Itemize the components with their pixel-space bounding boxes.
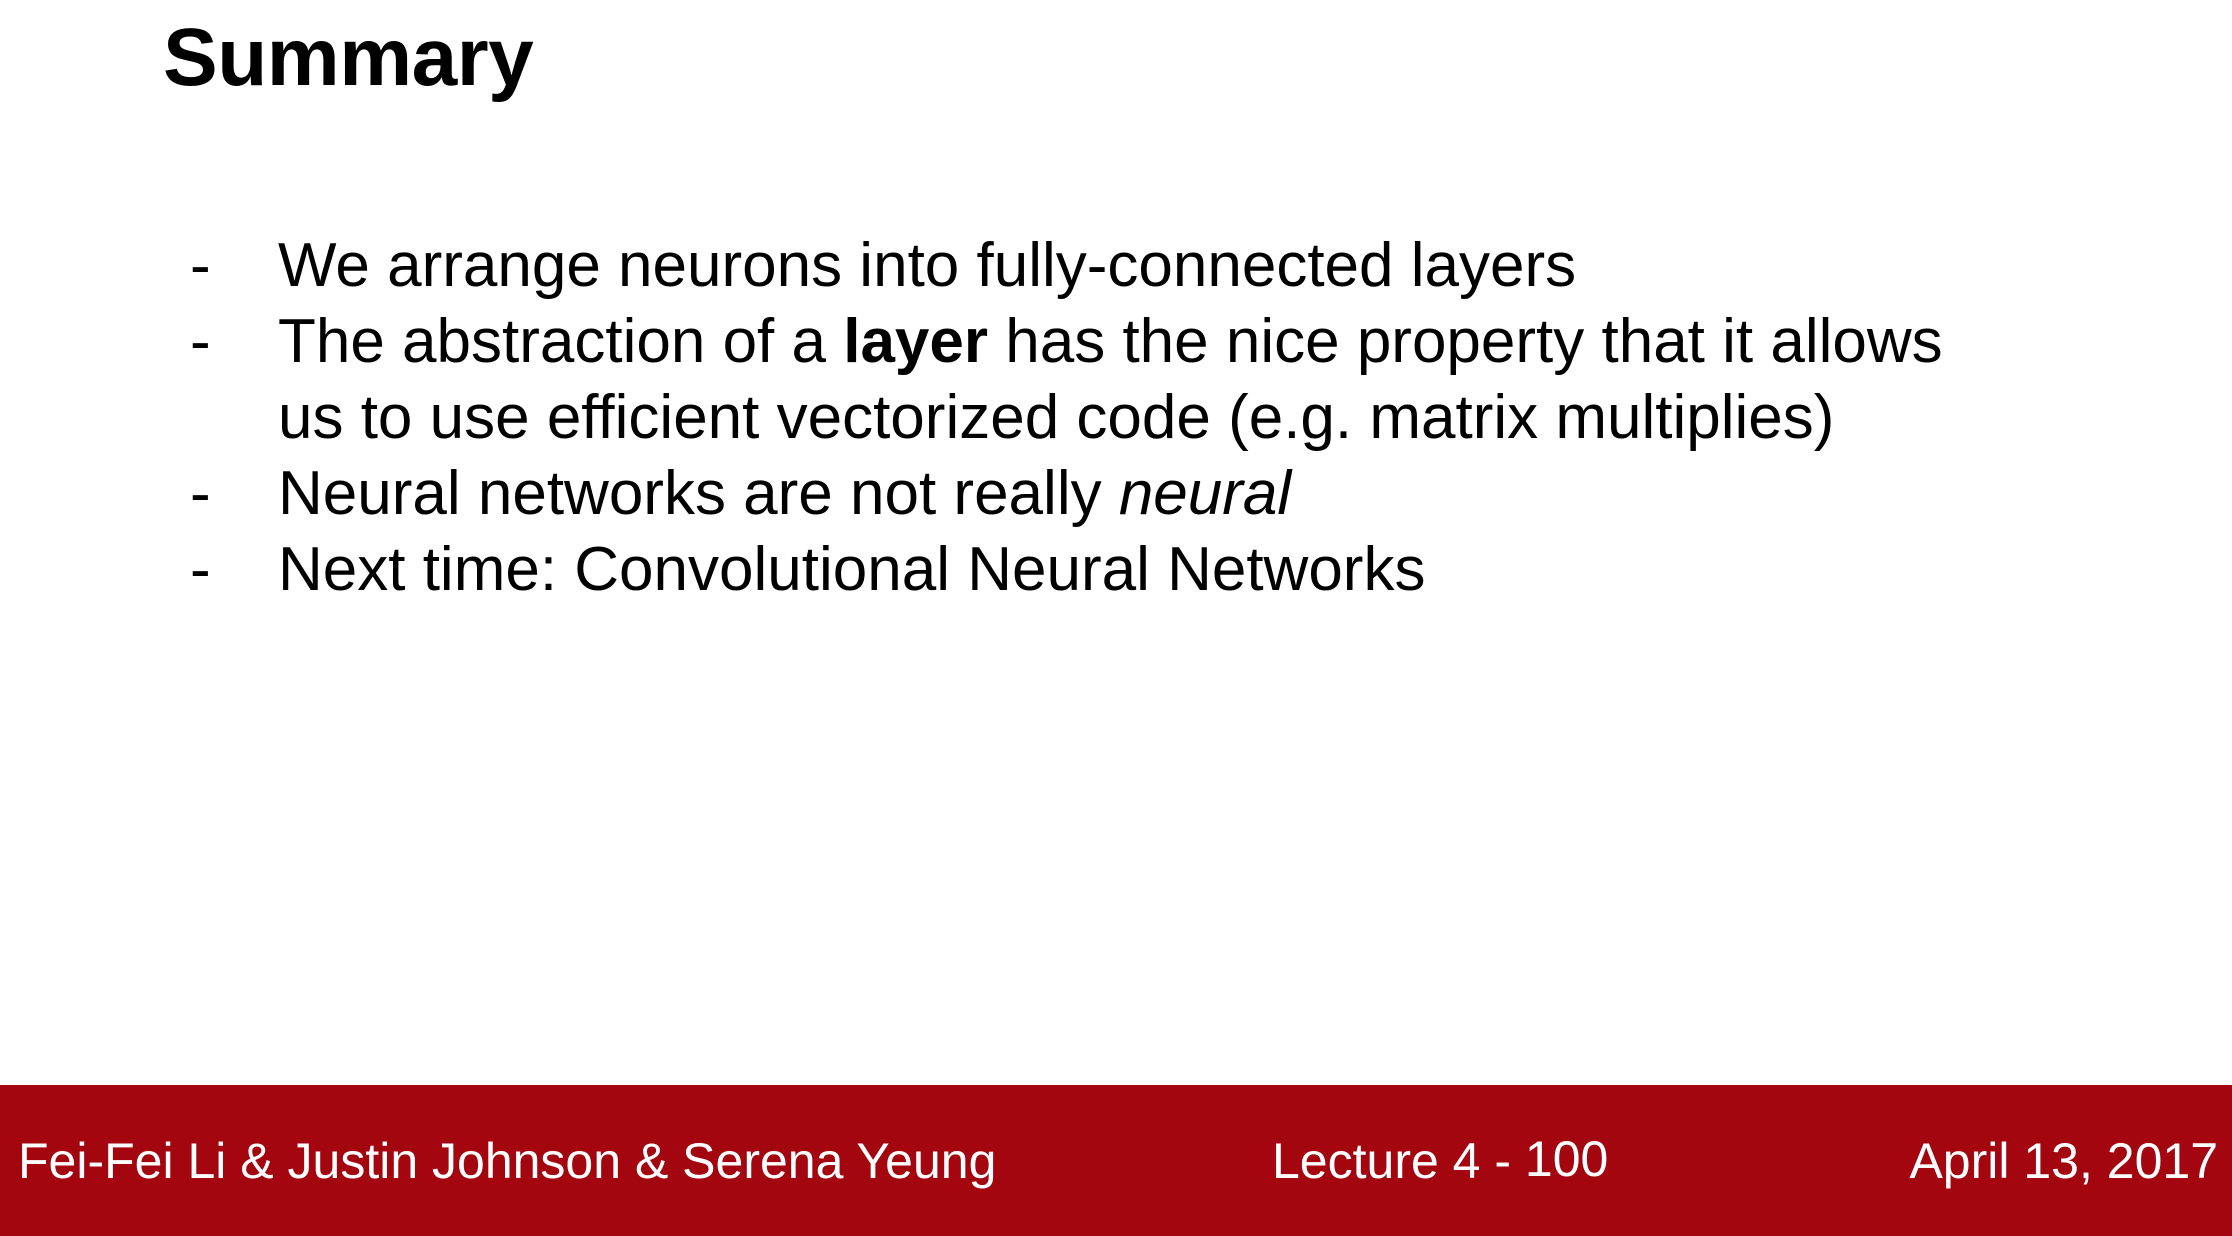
slide-canvas: Summary - We arrange neurons into fully-… [0, 0, 2232, 1236]
bullet-marker-icon: - [190, 228, 278, 304]
footer-authors: Fei-Fei Li & Justin Johnson & Serena Yeu… [18, 1085, 996, 1236]
bullet-marker-icon: - [190, 304, 278, 380]
list-item: - We arrange neurons into fully-connecte… [190, 228, 2070, 304]
slide-footer-band: Fei-Fei Li & Justin Johnson & Serena Yeu… [0, 1085, 2232, 1236]
footer-lecture-label: Lecture 4 - [1272, 1132, 1525, 1190]
page-title: Summary [163, 12, 533, 104]
list-item-text: Neural networks are not really neural [278, 456, 2023, 532]
list-item-text: We arrange neurons into fully-connected … [278, 228, 2023, 304]
list-item-text: The abstraction of a layer has the nice … [278, 304, 2023, 456]
bullet-segment-text: Next time: Convolutional Neural Networks [278, 535, 1425, 604]
bullet-segment-emphasis-bold: layer [843, 307, 988, 376]
list-item-text: Next time: Convolutional Neural Networks [278, 532, 2023, 608]
bullet-segment-text: Neural networks are not really [278, 459, 1119, 528]
footer-lecture-info: Lecture 4 - 100 [1272, 1085, 1572, 1236]
list-item: - The abstraction of a layer has the nic… [190, 304, 2070, 456]
slide-footer-content: Fei-Fei Li & Justin Johnson & Serena Yeu… [0, 1085, 2232, 1236]
footer-page-number: 100 [1525, 1128, 1577, 1190]
bullet-list: - We arrange neurons into fully-connecte… [190, 228, 2070, 608]
footer-date: April 13, 2017 [1909, 1085, 2218, 1236]
bullet-segment-text: The abstraction of a [278, 307, 843, 376]
bullet-marker-icon: - [190, 456, 278, 532]
bullet-marker-icon: - [190, 532, 278, 608]
bullet-segment-text: We arrange neurons into fully-connected … [278, 231, 1576, 300]
list-item: - Next time: Convolutional Neural Networ… [190, 532, 2070, 608]
list-item: - Neural networks are not really neural [190, 456, 2070, 532]
bullet-segment-emphasis-italic: neural [1119, 459, 1291, 528]
